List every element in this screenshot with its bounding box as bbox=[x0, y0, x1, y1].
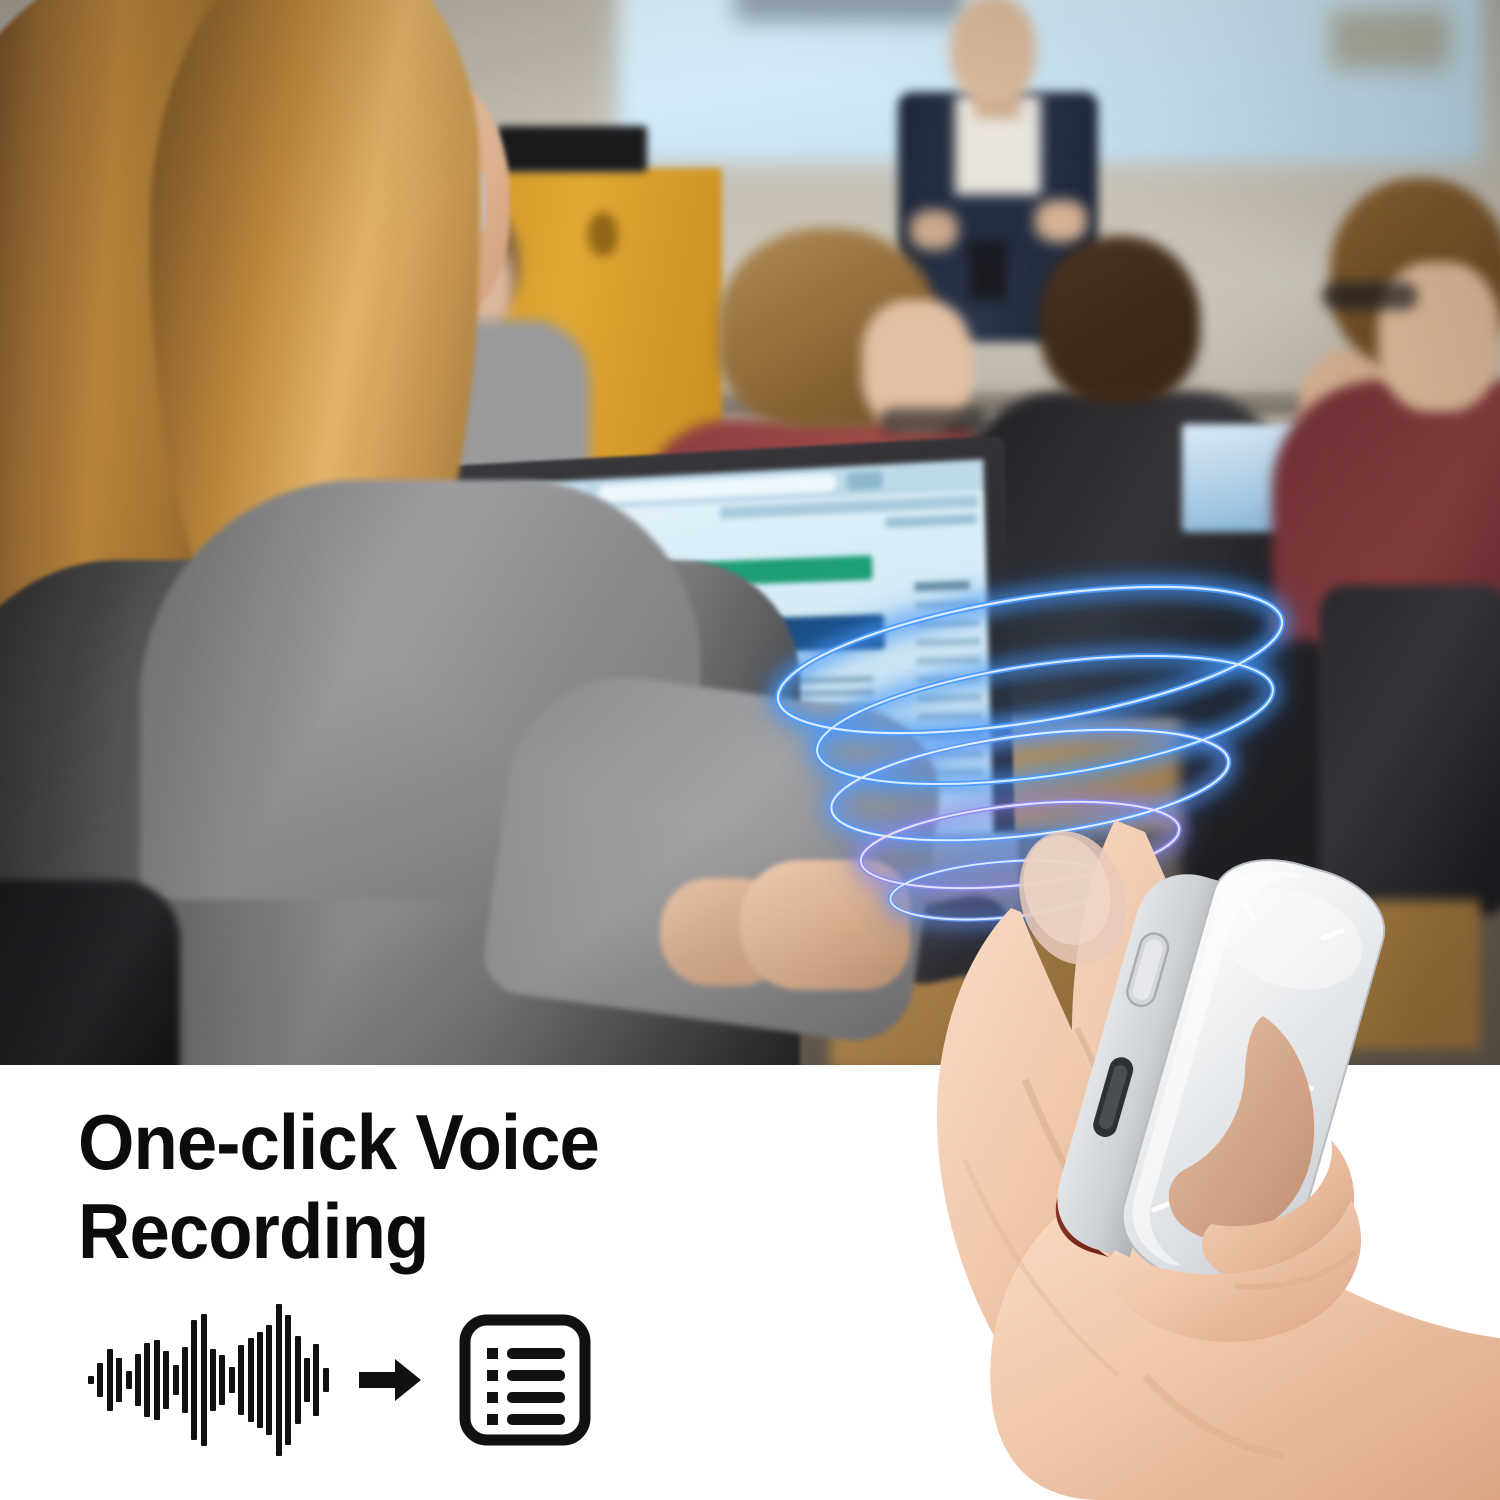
waveform-bar bbox=[229, 1367, 235, 1393]
waveform-bar bbox=[238, 1345, 244, 1415]
waveform-bar bbox=[257, 1332, 263, 1428]
projector-slide-graphic bbox=[1330, 10, 1450, 70]
waveform-bar bbox=[248, 1338, 254, 1422]
woman-hand-right bbox=[740, 860, 910, 990]
waveform-bar bbox=[97, 1363, 103, 1397]
lecture-hall-photo bbox=[0, 0, 1500, 1080]
feature-flow-row bbox=[88, 1300, 593, 1460]
waveform-bar bbox=[313, 1344, 319, 1416]
waveform-bar bbox=[304, 1358, 310, 1402]
waveform-bar bbox=[163, 1351, 169, 1409]
waveform-bar bbox=[173, 1365, 179, 1395]
waveform-bar bbox=[201, 1314, 207, 1446]
transcript-list-document-icon bbox=[457, 1312, 593, 1448]
student-right-glasses bbox=[1322, 282, 1418, 310]
student-center-black-head bbox=[1040, 236, 1200, 404]
waveform-bar bbox=[285, 1315, 291, 1445]
lectern-emblem bbox=[588, 212, 618, 256]
presenter-hand-left bbox=[1035, 200, 1087, 242]
waveform-bar bbox=[219, 1355, 225, 1405]
chair-left bbox=[0, 880, 180, 1080]
waveform-bar bbox=[144, 1343, 150, 1417]
waveform-bar bbox=[116, 1358, 122, 1402]
student-center-glasses bbox=[880, 408, 988, 434]
waveform-bar bbox=[276, 1304, 282, 1456]
waveform-bar bbox=[266, 1325, 272, 1435]
waveform-bar bbox=[191, 1320, 197, 1440]
page-title: One-click Voice Recording bbox=[78, 1098, 729, 1276]
presenter-head bbox=[950, 0, 1036, 103]
presenter-hand-right bbox=[910, 210, 958, 250]
woman-arm bbox=[479, 662, 951, 1049]
lectern-monitor bbox=[497, 126, 647, 172]
presenter-badge bbox=[968, 240, 1008, 302]
browser-button bbox=[847, 471, 883, 491]
waveform-bar bbox=[182, 1347, 188, 1413]
headline-line-2: Recording bbox=[78, 1187, 729, 1276]
audio-waveform-icon bbox=[88, 1300, 329, 1460]
waveform-bar bbox=[295, 1336, 301, 1424]
right-arrow-icon bbox=[357, 1354, 423, 1406]
chair-right bbox=[1320, 585, 1500, 915]
waveform-bar bbox=[135, 1354, 141, 1406]
waveform-bar bbox=[107, 1349, 113, 1411]
chair-middle bbox=[1180, 640, 1330, 940]
waveform-bar bbox=[88, 1376, 94, 1384]
projector-slide-text bbox=[735, 0, 965, 22]
page-right-heading bbox=[915, 580, 970, 591]
waveform-bar bbox=[126, 1371, 132, 1389]
product-banner: One-click Voice Recording bbox=[0, 0, 1500, 1500]
waveform-bar bbox=[323, 1368, 329, 1392]
waveform-bar bbox=[210, 1349, 216, 1411]
page-icon-row bbox=[886, 514, 977, 528]
waveform-bar bbox=[154, 1340, 160, 1420]
headline-line-1: One-click Voice bbox=[78, 1098, 599, 1186]
